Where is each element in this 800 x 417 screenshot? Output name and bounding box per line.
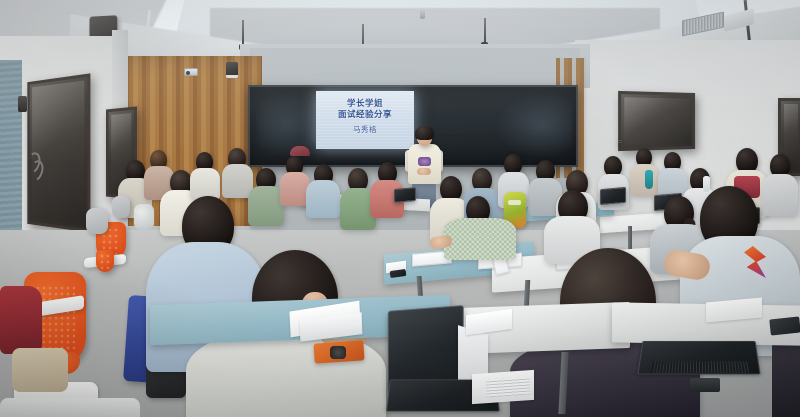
blackboard-reflection-right [495,92,573,158]
projector-lens-icon [186,71,190,75]
wall-speaker [226,62,238,78]
ceiling-sprinkler [420,8,425,19]
ceiling-microphone-cable [242,20,244,46]
chair-grey[interactable] [134,204,154,230]
water-bottle [645,170,653,189]
slide-presenter-name: 马秀格 [316,124,414,135]
water-bottle [703,176,710,192]
display-glass [624,97,689,144]
chair-grey[interactable] [112,196,130,218]
laptop[interactable] [618,140,622,143]
slide-title-line1: 学长学姐 [316,97,414,109]
classroom-photo: 学长学姐 面试经验分享 马秀格 [0,0,800,417]
student-torso-checkered [444,218,516,260]
presenter-hair [415,126,434,140]
student-torso [248,186,284,226]
laptop-trackpad[interactable] [690,378,720,392]
draped-jacket [0,286,42,354]
wall-display-right[interactable] [618,91,695,151]
student-cap [290,146,310,156]
student-torso [306,180,340,218]
laptop[interactable] [394,187,416,203]
tote-bag [12,348,68,392]
ceiling-microphone-cable [484,18,486,44]
tablet-arm-desk [0,398,140,417]
backpack-strap [508,200,521,205]
phone-camera-icon [330,346,346,359]
student-torso [762,174,798,216]
display-mount-bracket [18,96,27,112]
slide-title-line2: 面试经验分享 [316,108,414,120]
display-glass [32,80,84,225]
projected-slide: 学长学姐 面试经验分享 马秀格 [316,91,414,149]
chair-grey[interactable] [86,208,108,234]
student-torso [630,164,658,196]
presenter-hands [417,168,431,175]
laptop-keyboard[interactable] [651,361,749,373]
presenter-shirt-graphic [418,157,431,166]
document-text [486,376,530,397]
laptop[interactable] [600,187,626,205]
chair-orange[interactable] [96,250,114,272]
smartphone[interactable] [769,316,800,335]
